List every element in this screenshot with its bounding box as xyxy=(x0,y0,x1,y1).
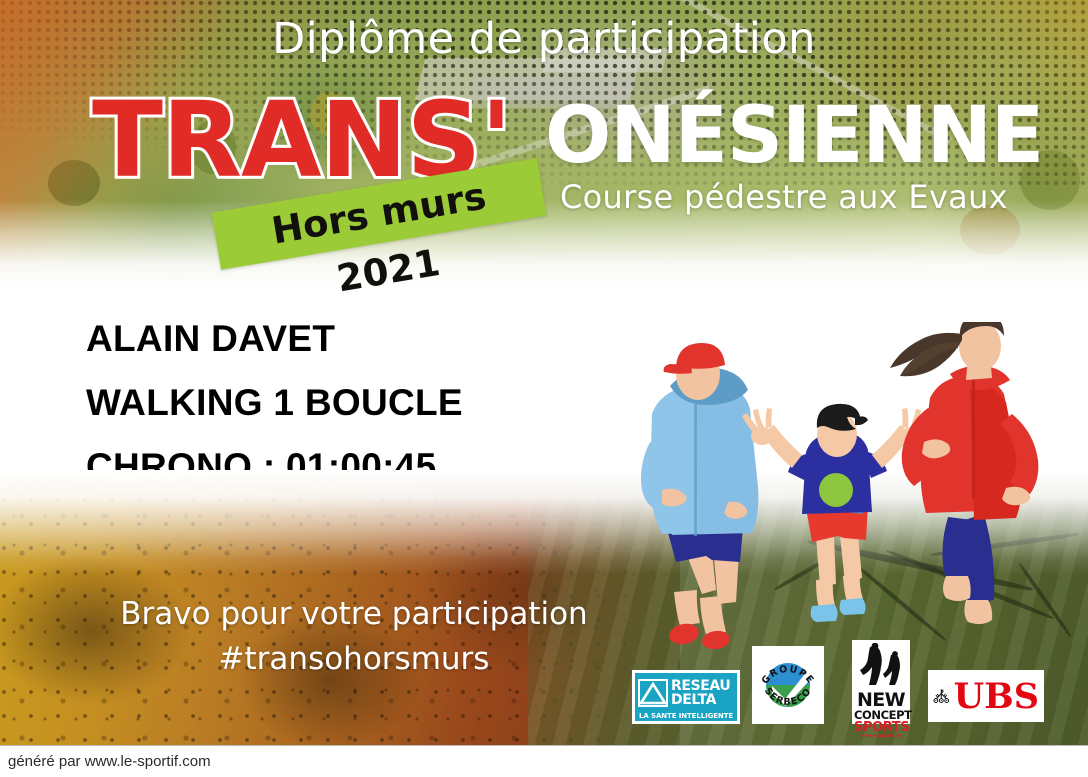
delta-tagline: LA SANTE INTELLIGENTE xyxy=(635,711,737,721)
page-title: Diplôme de participation xyxy=(0,14,1088,64)
runners-illustration xyxy=(640,322,1088,652)
hashtag-line: #transohorsmurs xyxy=(84,637,624,682)
participation-certificate: Diplôme de participation TRANS' ONÉSIENN… xyxy=(0,0,1088,777)
participant-name: ALAIN DAVET xyxy=(86,318,646,360)
child-runner-arms-raised-figure xyxy=(742,404,932,622)
ncs-url: www.ncsports.ch xyxy=(854,734,908,740)
event-subtitle: Course pédestre aux Evaux xyxy=(560,178,1008,216)
ncs-line-new: NEW xyxy=(854,692,908,709)
delta-name-line1: RESEAU xyxy=(671,679,734,693)
ubs-three-keys-icon xyxy=(933,676,950,716)
ubs-wordmark: UBS xyxy=(950,679,1039,714)
ncs-runners-icon xyxy=(854,643,908,687)
sponsor-logo-groupe-serbeco[interactable]: GROUPE SERBECO xyxy=(752,646,824,724)
congratulation-message: Bravo pour votre participation #transoho… xyxy=(84,592,624,682)
sponsor-logos: RESEAU DELTA LA SANTE INTELLIGENTE xyxy=(630,638,1050,730)
sponsor-logo-ubs[interactable]: UBS xyxy=(928,670,1044,722)
delta-triangle-icon xyxy=(638,679,668,707)
ncs-line-sports: SPORTS xyxy=(854,721,908,734)
sponsor-logo-new-concept-sports[interactable]: NEW CONCEPT SPORTS www.ncsports.ch xyxy=(852,640,910,724)
participant-category: WALKING 1 BOUCLE xyxy=(86,382,646,424)
brand-logo-onesienne: ONÉSIENNE xyxy=(545,97,1043,175)
woman-runner-red-jacket-figure xyxy=(890,322,1038,624)
adult-runner-blue-jacket-figure xyxy=(641,343,758,651)
delta-name-line2: DELTA xyxy=(671,693,734,707)
footer-bar: généré par www.le-sportif.com xyxy=(0,745,1088,777)
generated-by-text: généré par www.le-sportif.com xyxy=(8,753,211,770)
bravo-line: Bravo pour votre participation xyxy=(84,592,624,637)
sponsor-logo-reseau-delta[interactable]: RESEAU DELTA LA SANTE INTELLIGENTE xyxy=(632,670,740,724)
